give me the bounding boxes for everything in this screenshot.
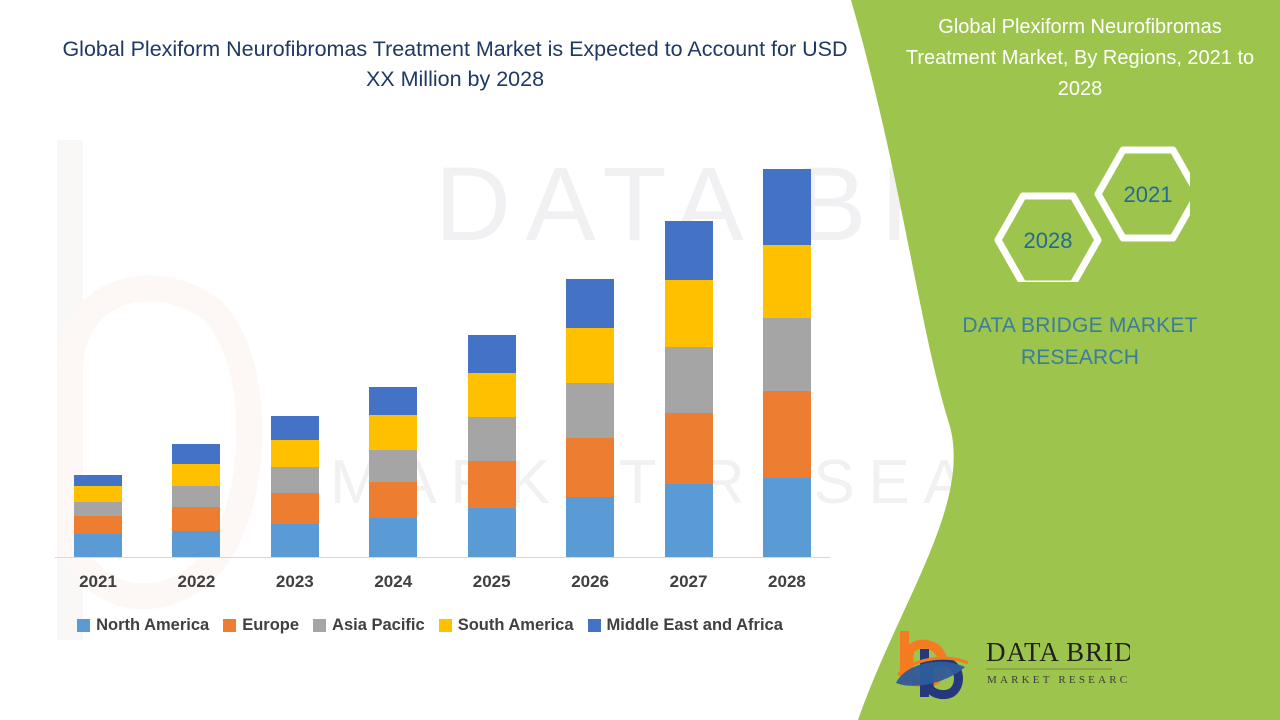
bar-segment[interactable] <box>172 464 220 486</box>
bar-segment[interactable] <box>468 461 516 508</box>
legend-label: Asia Pacific <box>332 616 425 635</box>
bar-group[interactable] <box>665 221 713 557</box>
hexagon-year-badges: 2021 2028 <box>980 142 1190 282</box>
bar-segment[interactable] <box>566 438 614 496</box>
legend-item[interactable]: North America <box>77 616 209 635</box>
legend-item[interactable]: South America <box>439 616 574 635</box>
bar-segment[interactable] <box>369 482 417 518</box>
bar-segment[interactable] <box>763 318 811 391</box>
bar-segment[interactable] <box>74 502 122 517</box>
legend-item[interactable]: Europe <box>223 616 299 635</box>
x-axis-label: 2028 <box>763 572 811 592</box>
bar-group[interactable] <box>468 335 516 557</box>
bar-segment[interactable] <box>271 440 319 467</box>
bar-segment[interactable] <box>468 373 516 418</box>
x-axis-label: 2022 <box>172 572 220 592</box>
bar-group[interactable] <box>566 279 614 557</box>
bar-segment[interactable] <box>172 486 220 507</box>
bar-segment[interactable] <box>665 413 713 484</box>
bar-segment[interactable] <box>271 493 319 523</box>
legend-item[interactable]: Asia Pacific <box>313 616 425 635</box>
bar-segment[interactable] <box>369 518 417 557</box>
chart-legend: North AmericaEuropeAsia PacificSouth Ame… <box>0 616 860 635</box>
bar-segment[interactable] <box>566 328 614 383</box>
brand-name-line-2: RESEARCH <box>880 342 1280 374</box>
green-panel-content: Global Plexiform Neurofibromas Treatment… <box>880 0 1280 720</box>
bar-group[interactable] <box>74 475 122 557</box>
bar-segment[interactable] <box>271 416 319 440</box>
brand-name-line-1: DATA BRIDGE MARKET <box>880 310 1280 342</box>
bar-segment[interactable] <box>74 475 122 486</box>
bar-segment[interactable] <box>172 507 220 531</box>
bar-segment[interactable] <box>468 417 516 461</box>
hexagon-start-year-label: 2021 <box>1124 182 1173 207</box>
bar-segment[interactable] <box>271 467 319 493</box>
bar-group[interactable] <box>369 387 417 557</box>
chart-title: Global Plexiform Neurofibromas Treatment… <box>60 34 850 94</box>
bar-group[interactable] <box>172 444 220 557</box>
legend-label: North America <box>96 616 209 635</box>
bar-segment[interactable] <box>468 335 516 373</box>
logo-subtitle: MARKET RESEARCH <box>987 674 1130 686</box>
legend-swatch-icon <box>77 619 90 632</box>
bar-segment[interactable] <box>665 347 713 413</box>
bar-segment[interactable] <box>665 221 713 279</box>
x-axis-label: 2026 <box>566 572 614 592</box>
bar-segment[interactable] <box>763 391 811 478</box>
legend-label: South America <box>458 616 574 635</box>
legend-item[interactable]: Middle East and Africa <box>588 616 783 635</box>
brand-name-text: DATA BRIDGE MARKET RESEARCH <box>880 310 1280 374</box>
legend-label: Europe <box>242 616 299 635</box>
bar-segment[interactable] <box>763 478 811 557</box>
x-axis-label: 2024 <box>369 572 417 592</box>
bar-segment[interactable] <box>566 383 614 438</box>
bar-segment[interactable] <box>566 279 614 328</box>
legend-swatch-icon <box>313 619 326 632</box>
data-bridge-logo: DATA BRIDGE MARKET RESEARCH <box>890 625 1130 707</box>
bar-segment[interactable] <box>271 524 319 557</box>
sidebar-title: Global Plexiform Neurofibromas Treatment… <box>880 12 1280 105</box>
x-axis-tick-labels: 20212022202320242025202620272028 <box>55 572 830 592</box>
x-axis-label: 2025 <box>468 572 516 592</box>
bar-segment[interactable] <box>74 534 122 557</box>
bar-segment[interactable] <box>566 497 614 557</box>
bar-segment[interactable] <box>172 531 220 557</box>
bar-segment[interactable] <box>172 444 220 464</box>
bar-segment[interactable] <box>763 245 811 318</box>
bar-segment[interactable] <box>665 280 713 348</box>
legend-swatch-icon <box>588 619 601 632</box>
x-axis-label: 2021 <box>74 572 122 592</box>
hexagon-end-year-label: 2028 <box>1024 228 1073 253</box>
legend-swatch-icon <box>223 619 236 632</box>
bar-series-container <box>55 140 830 557</box>
bar-group[interactable] <box>763 169 811 557</box>
bar-group[interactable] <box>271 416 319 557</box>
legend-label: Middle East and Africa <box>607 616 783 635</box>
bar-segment[interactable] <box>763 169 811 245</box>
bar-segment[interactable] <box>665 484 713 557</box>
bar-segment[interactable] <box>369 415 417 449</box>
bar-segment[interactable] <box>369 387 417 415</box>
x-axis-label: 2027 <box>665 572 713 592</box>
infographic-slide: DATA BRIDGE MARKET RESEARCH Global Plexi… <box>0 0 1280 720</box>
bar-segment[interactable] <box>369 450 417 482</box>
bar-segment[interactable] <box>468 508 516 557</box>
legend-swatch-icon <box>439 619 452 632</box>
x-axis-label: 2023 <box>271 572 319 592</box>
chart-plot-area <box>55 140 830 558</box>
bar-segment[interactable] <box>74 486 122 502</box>
x-axis-line <box>55 557 830 558</box>
logo-title: DATA BRIDGE <box>986 637 1130 667</box>
bar-segment[interactable] <box>74 516 122 534</box>
chart-panel: Global Plexiform Neurofibromas Treatment… <box>0 0 860 720</box>
